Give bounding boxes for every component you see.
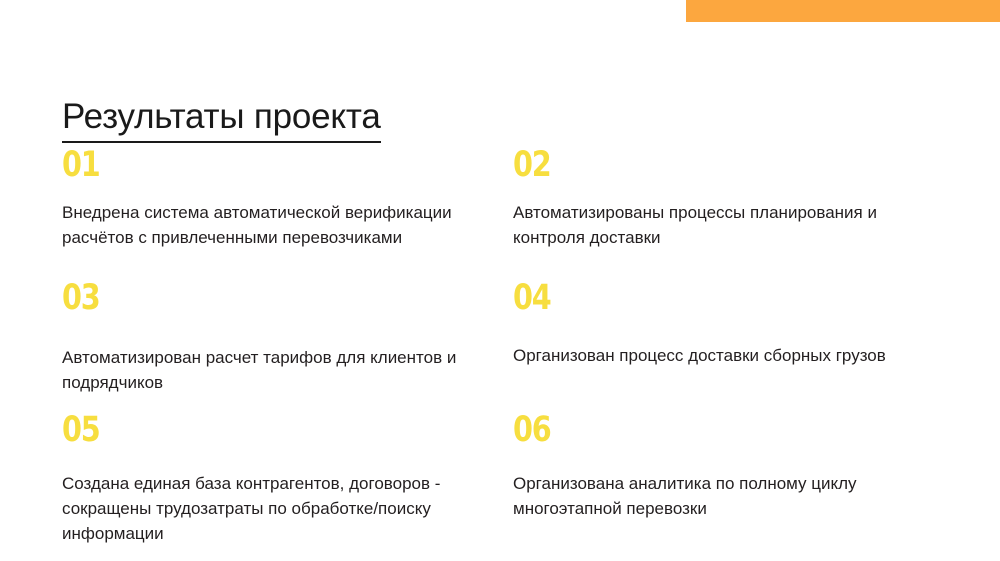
result-number-03: 03 [62, 281, 99, 316]
result-number-06: 06 [513, 413, 550, 448]
results-grid: 01 Внедрена система автоматической вериф… [62, 148, 952, 547]
result-item-04: 04 Организован процесс доставки сборных … [513, 281, 952, 413]
result-text-03: Автоматизирован расчет тарифов для клиен… [62, 346, 482, 396]
result-number-04: 04 [513, 281, 550, 316]
page-title-text: Результаты проекта [62, 97, 381, 142]
result-number-05: 05 [62, 413, 99, 448]
result-text-01: Внедрена система автоматической верифика… [62, 201, 482, 251]
result-item-05: 05 Создана единая база контрагентов, дог… [62, 413, 513, 547]
result-text-06: Организована аналитика по полному циклу … [513, 472, 933, 522]
result-item-02: 02 Автоматизированы процессы планировани… [513, 148, 952, 281]
result-item-03: 03 Автоматизирован расчет тарифов для кл… [62, 281, 513, 413]
slide-root: Результаты проекта 01 Внедрена система а… [0, 0, 1000, 561]
result-text-05: Создана единая база контрагентов, догово… [62, 472, 482, 547]
result-number-01: 01 [62, 148, 99, 183]
result-text-02: Автоматизированы процессы планирования и… [513, 201, 933, 251]
page-title: Результаты проекта [62, 97, 381, 142]
result-text-04: Организован процесс доставки сборных гру… [513, 344, 933, 369]
result-item-01: 01 Внедрена система автоматической вериф… [62, 148, 513, 281]
result-number-02: 02 [513, 148, 550, 183]
result-item-06: 06 Организована аналитика по полному цик… [513, 413, 952, 547]
top-accent-bar [686, 0, 1000, 22]
